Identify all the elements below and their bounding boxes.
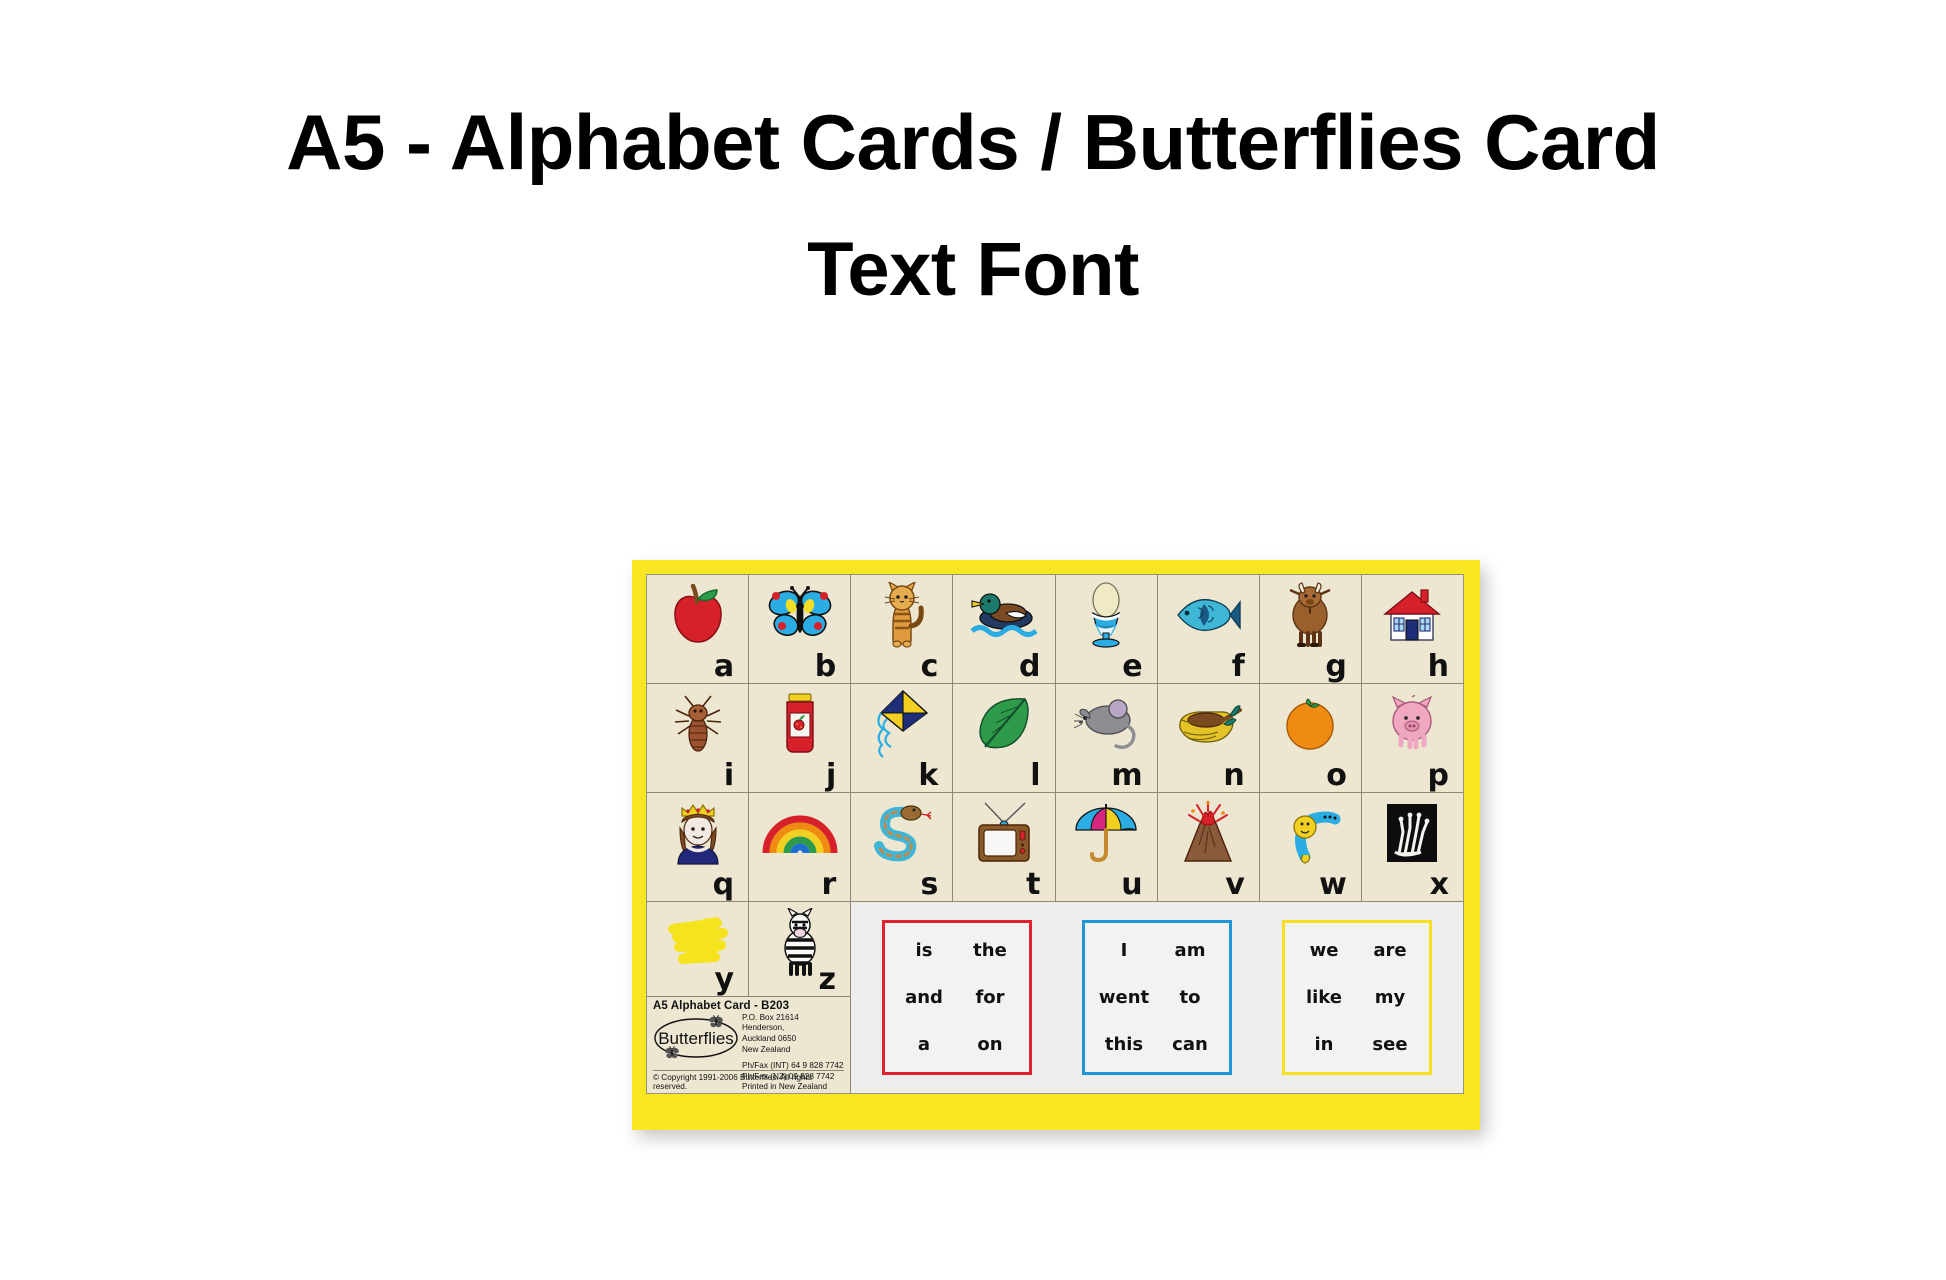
volcano-icon — [1158, 797, 1259, 869]
alphabet-row-yz: y z — [647, 902, 850, 997]
alphabet-letter: k — [918, 761, 938, 791]
title-line-2: Text Font — [0, 206, 1946, 334]
alphabet-letter: j — [826, 761, 836, 791]
blue-word-box[interactable]: Iamwenttothiscan — [1082, 920, 1232, 1075]
red-word-box[interactable]: istheandforaon — [882, 920, 1032, 1075]
alphabet-cell-p[interactable]: p — [1362, 684, 1463, 793]
alphabet-letter: i — [724, 761, 734, 791]
alphabet-cell-u[interactable]: u — [1056, 793, 1158, 902]
title-line-1: A5 - Alphabet Cards / Butterflies Card — [0, 78, 1946, 206]
alphabet-letter: g — [1325, 652, 1346, 682]
alphabet-cell-y[interactable]: y — [647, 902, 749, 997]
alphabet-cell-z[interactable]: z — [749, 902, 850, 997]
duck-icon — [953, 579, 1054, 651]
address-line: New Zealand — [742, 1045, 846, 1056]
alphabet-cell-s[interactable]: s — [851, 793, 953, 902]
sight-word[interactable]: on — [977, 1036, 1002, 1054]
alphabet-cell-w[interactable]: w — [1260, 793, 1362, 902]
imprint-block: A5 Alphabet Card - B203 — [647, 997, 850, 1093]
sight-word[interactable]: to — [1180, 989, 1201, 1007]
alphabet-cell-e[interactable]: e — [1056, 575, 1158, 684]
sight-word[interactable]: this — [1105, 1036, 1143, 1054]
address-line: Auckland 0650 — [742, 1034, 846, 1045]
sight-word[interactable]: we — [1310, 942, 1339, 960]
alphabet-cell-d[interactable]: d — [953, 575, 1055, 684]
alphabet-letter: u — [1121, 870, 1142, 900]
alphabet-letter: t — [1026, 870, 1040, 900]
alphabet-letter: b — [815, 652, 836, 682]
alphabet-letter: q — [713, 870, 734, 900]
alphabet-letter: a — [714, 652, 734, 682]
alphabet-cell-o[interactable]: o — [1260, 684, 1362, 793]
alphabet-cell-c[interactable]: c — [851, 575, 953, 684]
sight-word[interactable]: for — [975, 989, 1004, 1007]
alphabet-cell-l[interactable]: l — [953, 684, 1055, 793]
sight-word[interactable]: my — [1375, 989, 1406, 1007]
butterfly-icon-small-bottom — [664, 1046, 679, 1059]
alphabet-letter: c — [921, 652, 939, 682]
alphabet-letter: r — [821, 870, 836, 900]
sight-word[interactable]: a — [918, 1036, 930, 1054]
alphabet-cell-m[interactable]: m — [1056, 684, 1158, 793]
alphabet-letter: f — [1232, 652, 1245, 682]
pig-icon — [1362, 688, 1463, 760]
apple-icon — [647, 579, 748, 651]
alphabet-letter: l — [1030, 761, 1040, 791]
queen-icon — [647, 797, 748, 869]
sight-word[interactable]: I — [1121, 942, 1128, 960]
rainbow-icon — [749, 797, 850, 869]
butterfly-icon-small-top — [708, 1015, 723, 1028]
alphabet-letter: w — [1319, 870, 1347, 900]
sight-word[interactable]: am — [1175, 942, 1206, 960]
word-boxes-area: istheandforaonIamwenttothiscanwearelikem… — [851, 902, 1463, 1093]
television-icon — [953, 797, 1054, 869]
snake-icon — [851, 797, 952, 869]
sight-word[interactable]: and — [905, 989, 943, 1007]
alphabet-letter: s — [921, 870, 939, 900]
sight-word[interactable]: the — [973, 942, 1007, 960]
alphabet-rows: a b c — [647, 575, 1463, 902]
page-title: A5 - Alphabet Cards / Butterflies Card T… — [0, 78, 1946, 334]
sight-word[interactable]: can — [1172, 1036, 1208, 1054]
sight-word[interactable]: is — [916, 942, 933, 960]
address-line: Henderson, — [742, 1023, 846, 1034]
alphabet-letter: h — [1428, 652, 1449, 682]
worm-icon — [1260, 797, 1361, 869]
insect-icon — [647, 688, 748, 760]
alphabet-letter: v — [1225, 870, 1245, 900]
orange-icon — [1260, 688, 1361, 760]
alphabet-cell-q[interactable]: q — [647, 793, 749, 902]
card-grid: a b c — [646, 574, 1464, 1094]
alphabet-letter: d — [1019, 652, 1040, 682]
goat-icon — [1260, 579, 1361, 651]
card-bottom-row: y z A5 Alphabet Card - B203 — [647, 902, 1463, 1093]
address-lines: P.O. Box 21614Henderson,Auckland 0650New… — [742, 1013, 846, 1055]
sight-word[interactable]: see — [1372, 1036, 1407, 1054]
egg-icon — [1056, 579, 1157, 651]
alphabet-cell-h[interactable]: h — [1362, 575, 1463, 684]
product-code: A5 Alphabet Card - B203 — [653, 1000, 846, 1012]
house-icon — [1362, 579, 1463, 651]
alphabet-cell-a[interactable]: a — [647, 575, 749, 684]
address-line: P.O. Box 21614 — [742, 1013, 846, 1024]
logo-text: Butterflies — [658, 1029, 734, 1048]
alphabet-letter: y — [714, 965, 734, 995]
copyright-text: © Copyright 1991-2006 Butterflies. All r… — [653, 1070, 844, 1091]
kite-icon — [851, 688, 952, 760]
alphabet-letter: e — [1122, 652, 1142, 682]
alphabet-row: q r s t u — [647, 793, 1463, 902]
alphabet-cell-t[interactable]: t — [953, 793, 1055, 902]
alphabet-letter: x — [1430, 870, 1449, 900]
cat-icon — [851, 579, 952, 651]
sight-word[interactable]: are — [1373, 942, 1406, 960]
yellow-word-box[interactable]: wearelikemyinsee — [1282, 920, 1432, 1075]
sight-word[interactable]: in — [1315, 1036, 1334, 1054]
alphabet-cell-f[interactable]: f — [1158, 575, 1260, 684]
alphabet-cell-v[interactable]: v — [1158, 793, 1260, 902]
alphabet-row: a b c — [647, 575, 1463, 684]
leaf-icon — [953, 688, 1054, 760]
card-bottom-left: y z A5 Alphabet Card - B203 — [647, 902, 851, 1093]
alphabet-cell-r[interactable]: r — [749, 793, 851, 902]
alphabet-cell-j[interactable]: j — [749, 684, 851, 793]
alphabet-letter: o — [1326, 761, 1347, 791]
alphabet-row: i j k l m — [647, 684, 1463, 793]
sight-word[interactable]: like — [1306, 989, 1342, 1007]
mouse-icon — [1056, 688, 1157, 760]
jam-jar-icon — [749, 688, 850, 760]
alphabet-cell-b[interactable]: b — [749, 575, 851, 684]
butterfly-icon — [749, 579, 850, 651]
alphabet-cell-n[interactable]: n — [1158, 684, 1260, 793]
xray-icon — [1362, 797, 1463, 869]
alphabet-cell-k[interactable]: k — [851, 684, 953, 793]
alphabet-letter: p — [1428, 761, 1449, 791]
alphabet-cell-i[interactable]: i — [647, 684, 749, 793]
nest-icon — [1158, 688, 1259, 760]
fish-icon — [1158, 579, 1259, 651]
alphabet-cell-g[interactable]: g — [1260, 575, 1362, 684]
alphabet-cell-x[interactable]: x — [1362, 793, 1463, 902]
alphabet-card: a b c — [632, 560, 1480, 1130]
alphabet-letter: m — [1111, 761, 1142, 791]
umbrella-icon — [1056, 797, 1157, 869]
sight-word[interactable]: went — [1099, 989, 1149, 1007]
alphabet-letter: n — [1223, 761, 1244, 791]
alphabet-letter: z — [819, 965, 836, 995]
